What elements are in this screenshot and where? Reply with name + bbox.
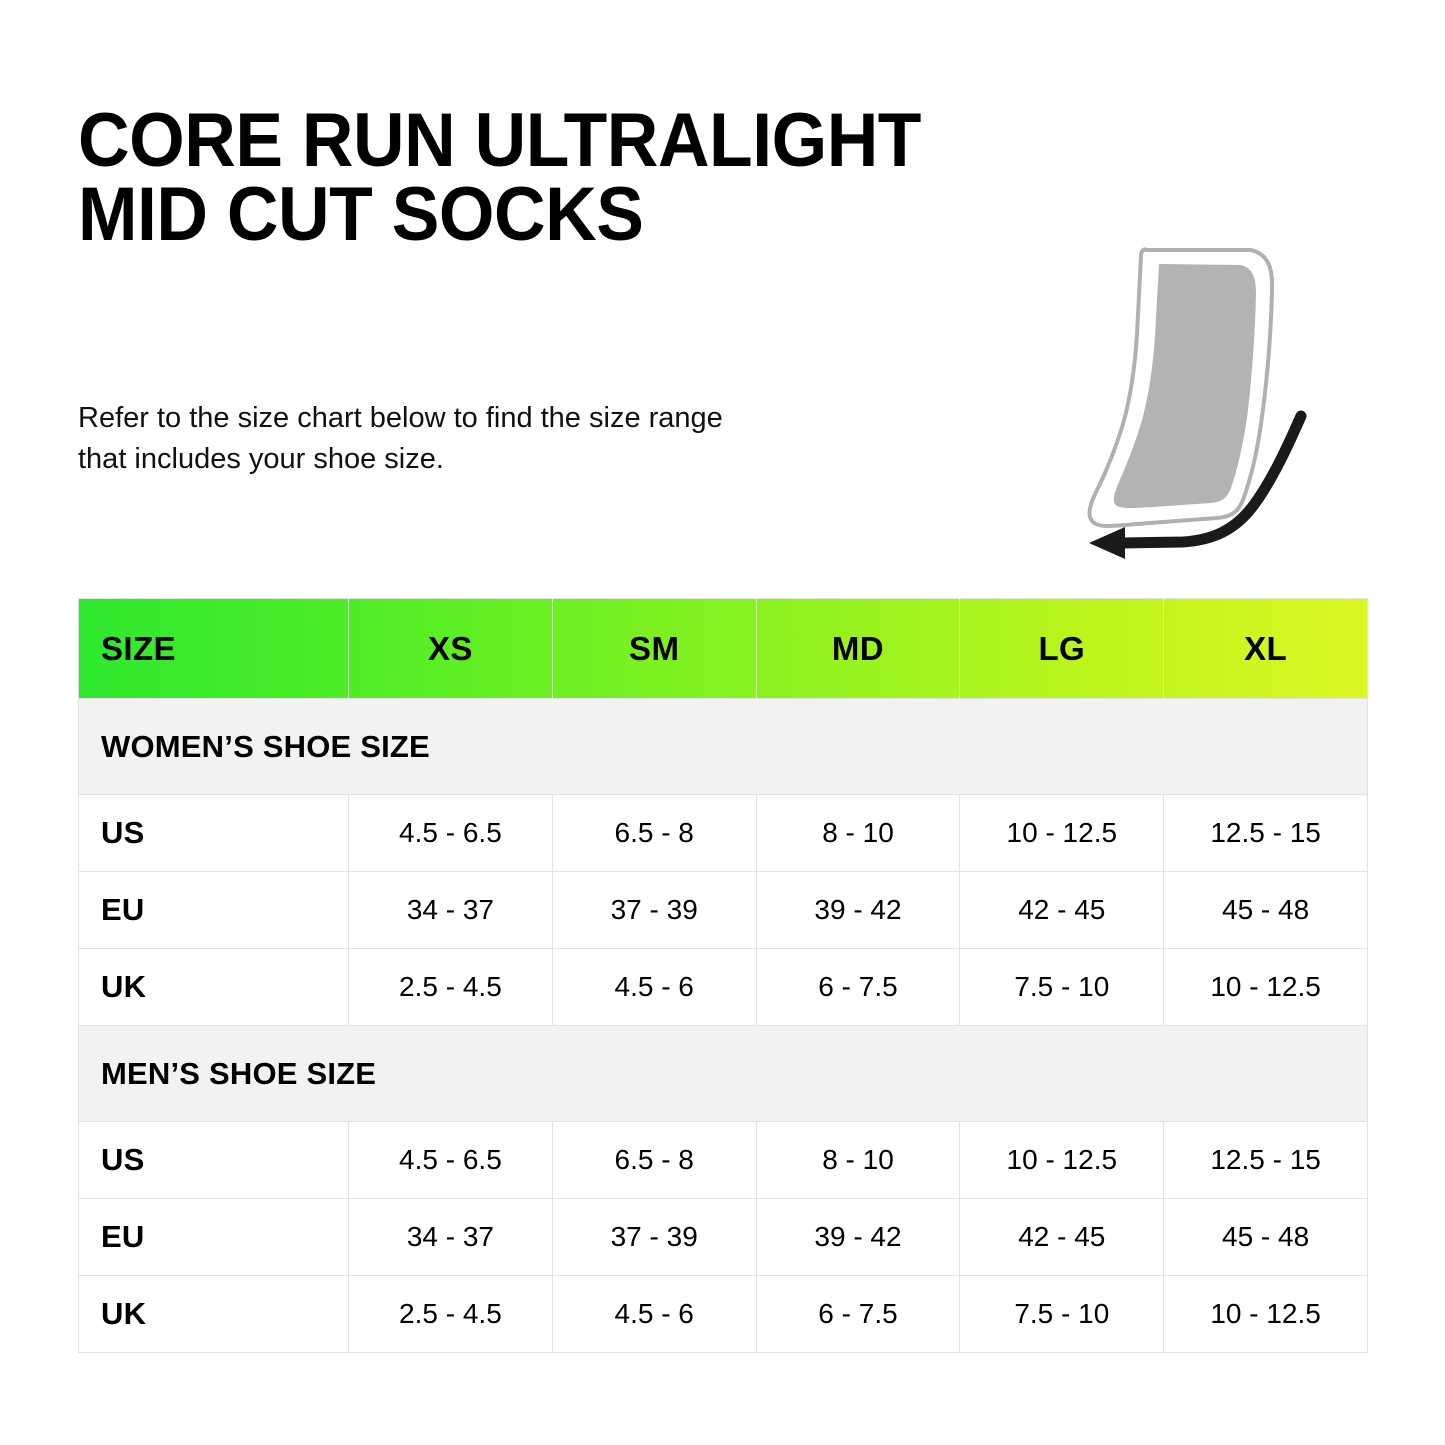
table-cell: 10 - 12.5: [1164, 1276, 1368, 1353]
table-cell: 4.5 - 6: [552, 1276, 756, 1353]
table-cell: 42 - 45: [960, 872, 1164, 949]
row-label: EU: [79, 872, 349, 949]
table-cell: 6.5 - 8: [552, 795, 756, 872]
table-cell: 8 - 10: [756, 795, 960, 872]
table-cell: 7.5 - 10: [960, 1276, 1164, 1353]
section-title: WOMEN’S SHOE SIZE: [79, 699, 1368, 795]
section-title: MEN’S SHOE SIZE: [79, 1026, 1368, 1122]
table-cell: 4.5 - 6.5: [349, 1122, 553, 1199]
table-cell: 39 - 42: [756, 872, 960, 949]
arrow-head-icon: [1089, 527, 1125, 559]
column-header-xl: XL: [1164, 599, 1368, 699]
row-label: EU: [79, 1199, 349, 1276]
column-header-sm: SM: [552, 599, 756, 699]
table-header-row: SIZE XS SM MD LG XL: [79, 599, 1368, 699]
size-chart-table: SIZE XS SM MD LG XL WOMEN’S SHOE SIZE US…: [78, 598, 1368, 1353]
table-cell: 10 - 12.5: [1164, 949, 1368, 1026]
table-cell: 45 - 48: [1164, 872, 1368, 949]
table-cell: 8 - 10: [756, 1122, 960, 1199]
table-cell: 12.5 - 15: [1164, 1122, 1368, 1199]
table-cell: 34 - 37: [349, 872, 553, 949]
page-title: CORE RUN ULTRALIGHT MID CUT SOCKS: [78, 104, 1291, 253]
table-cell: 7.5 - 10: [960, 949, 1164, 1026]
column-header-xs: XS: [349, 599, 553, 699]
row-label: US: [79, 795, 349, 872]
table-row: US 4.5 - 6.5 6.5 - 8 8 - 10 10 - 12.5 12…: [79, 1122, 1368, 1199]
column-header-md: MD: [756, 599, 960, 699]
size-chart-page: CORE RUN ULTRALIGHT MID CUT SOCKS Refer …: [0, 0, 1445, 1445]
column-header-lg: LG: [960, 599, 1164, 699]
section-header-mens: MEN’S SHOE SIZE: [79, 1026, 1368, 1122]
table-cell: 42 - 45: [960, 1199, 1164, 1276]
table-row: EU 34 - 37 37 - 39 39 - 42 42 - 45 45 - …: [79, 872, 1368, 949]
row-label: US: [79, 1122, 349, 1199]
table-cell: 2.5 - 4.5: [349, 949, 553, 1026]
page-header: CORE RUN ULTRALIGHT MID CUT SOCKS: [78, 104, 1368, 253]
table-cell: 2.5 - 4.5: [349, 1276, 553, 1353]
row-label: UK: [79, 1276, 349, 1353]
sock-illustration: [1075, 238, 1375, 568]
table-cell: 39 - 42: [756, 1199, 960, 1276]
table-row: UK 2.5 - 4.5 4.5 - 6 6 - 7.5 7.5 - 10 10…: [79, 949, 1368, 1026]
page-subtitle: Refer to the size chart below to find th…: [78, 398, 958, 480]
row-label: UK: [79, 949, 349, 1026]
table-cell: 10 - 12.5: [960, 795, 1164, 872]
table-cell: 6 - 7.5: [756, 949, 960, 1026]
table-cell: 12.5 - 15: [1164, 795, 1368, 872]
table-cell: 6.5 - 8: [552, 1122, 756, 1199]
table-cell: 10 - 12.5: [960, 1122, 1164, 1199]
table-cell: 37 - 39: [552, 872, 756, 949]
table-cell: 4.5 - 6.5: [349, 795, 553, 872]
column-header-size: SIZE: [79, 599, 349, 699]
table-row: US 4.5 - 6.5 6.5 - 8 8 - 10 10 - 12.5 12…: [79, 795, 1368, 872]
table-cell: 6 - 7.5: [756, 1276, 960, 1353]
table-row: EU 34 - 37 37 - 39 39 - 42 42 - 45 45 - …: [79, 1199, 1368, 1276]
table-cell: 37 - 39: [552, 1199, 756, 1276]
section-header-womens: WOMEN’S SHOE SIZE: [79, 699, 1368, 795]
table-cell: 4.5 - 6: [552, 949, 756, 1026]
table-cell: 34 - 37: [349, 1199, 553, 1276]
table-row: UK 2.5 - 4.5 4.5 - 6 6 - 7.5 7.5 - 10 10…: [79, 1276, 1368, 1353]
table-cell: 45 - 48: [1164, 1199, 1368, 1276]
